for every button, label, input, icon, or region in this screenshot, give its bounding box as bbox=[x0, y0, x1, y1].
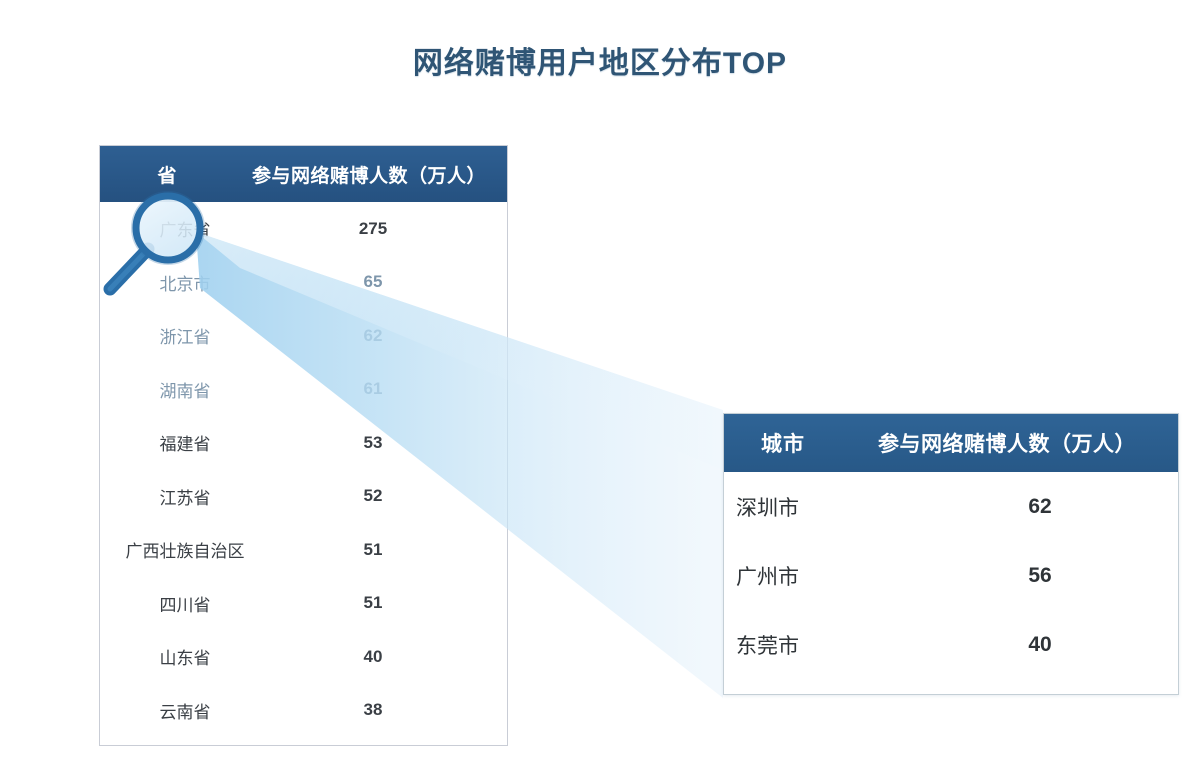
province-name-cell: 浙江省 bbox=[100, 323, 270, 348]
province-count-cell: 62 bbox=[308, 326, 438, 346]
city-column-header-region: 城市 bbox=[724, 428, 842, 458]
province-name-cell: 湖南省 bbox=[100, 377, 270, 402]
province-table-row: 广东省275 bbox=[100, 202, 507, 255]
city-table-row: 广州市56 bbox=[724, 541, 1178, 610]
province-name-cell: 广东省 bbox=[100, 216, 270, 241]
city-column-header-count: 参与网络赌博人数（万人） bbox=[842, 428, 1178, 458]
province-count-cell: 61 bbox=[308, 379, 438, 399]
province-count-cell: 38 bbox=[308, 700, 438, 720]
city-name-cell: 广州市 bbox=[724, 561, 852, 591]
province-table-row: 江苏省52 bbox=[100, 470, 507, 523]
province-name-cell: 四川省 bbox=[100, 591, 270, 616]
province-name-cell: 云南省 bbox=[100, 698, 270, 723]
city-table-header: 城市 参与网络赌博人数（万人） bbox=[724, 414, 1178, 472]
province-column-header-region: 省 bbox=[100, 161, 235, 188]
city-table-row: 东莞市40 bbox=[724, 610, 1178, 679]
province-table-row: 四川省51 bbox=[100, 577, 507, 630]
province-table-row: 云南省38 bbox=[100, 684, 507, 737]
province-table-row: 福建省53 bbox=[100, 416, 507, 469]
city-table-panel: 城市 参与网络赌博人数（万人） 深圳市62广州市56东莞市40 bbox=[723, 413, 1179, 695]
province-count-cell: 53 bbox=[308, 433, 438, 453]
province-count-cell: 51 bbox=[308, 540, 438, 560]
province-column-header-count: 参与网络赌博人数（万人） bbox=[235, 161, 507, 188]
province-count-cell: 275 bbox=[308, 219, 438, 239]
city-count-cell: 56 bbox=[960, 564, 1120, 588]
province-table-row: 浙江省62 bbox=[100, 309, 507, 362]
province-count-cell: 40 bbox=[308, 647, 438, 667]
city-name-cell: 东莞市 bbox=[724, 630, 852, 660]
province-name-cell: 广西壮族自治区 bbox=[100, 537, 270, 562]
province-count-cell: 51 bbox=[308, 593, 438, 613]
province-table-row: 北京市65 bbox=[100, 256, 507, 309]
city-table-row: 深圳市62 bbox=[724, 472, 1178, 541]
city-count-cell: 62 bbox=[960, 495, 1120, 519]
city-name-cell: 深圳市 bbox=[724, 492, 852, 522]
province-count-cell: 52 bbox=[308, 486, 438, 506]
province-table-body: 广东省275北京市65浙江省62湖南省61福建省53江苏省52广西壮族自治区51… bbox=[100, 202, 507, 745]
province-table-row: 湖南省61 bbox=[100, 363, 507, 416]
province-name-cell: 福建省 bbox=[100, 430, 270, 455]
province-table-panel: 省 参与网络赌博人数（万人） 广东省275北京市65浙江省62湖南省61福建省5… bbox=[99, 145, 508, 746]
page-title: 网络赌博用户地区分布TOP bbox=[0, 38, 1200, 82]
province-name-cell: 北京市 bbox=[100, 270, 270, 295]
province-name-cell: 江苏省 bbox=[100, 484, 270, 509]
province-count-cell: 65 bbox=[308, 272, 438, 292]
province-table-row: 广西壮族自治区51 bbox=[100, 523, 507, 576]
province-name-cell: 山东省 bbox=[100, 644, 270, 669]
city-count-cell: 40 bbox=[960, 633, 1120, 657]
province-table-row: 山东省40 bbox=[100, 630, 507, 683]
province-table-header: 省 参与网络赌博人数（万人） bbox=[100, 146, 507, 202]
city-table-body: 深圳市62广州市56东莞市40 bbox=[724, 472, 1178, 694]
